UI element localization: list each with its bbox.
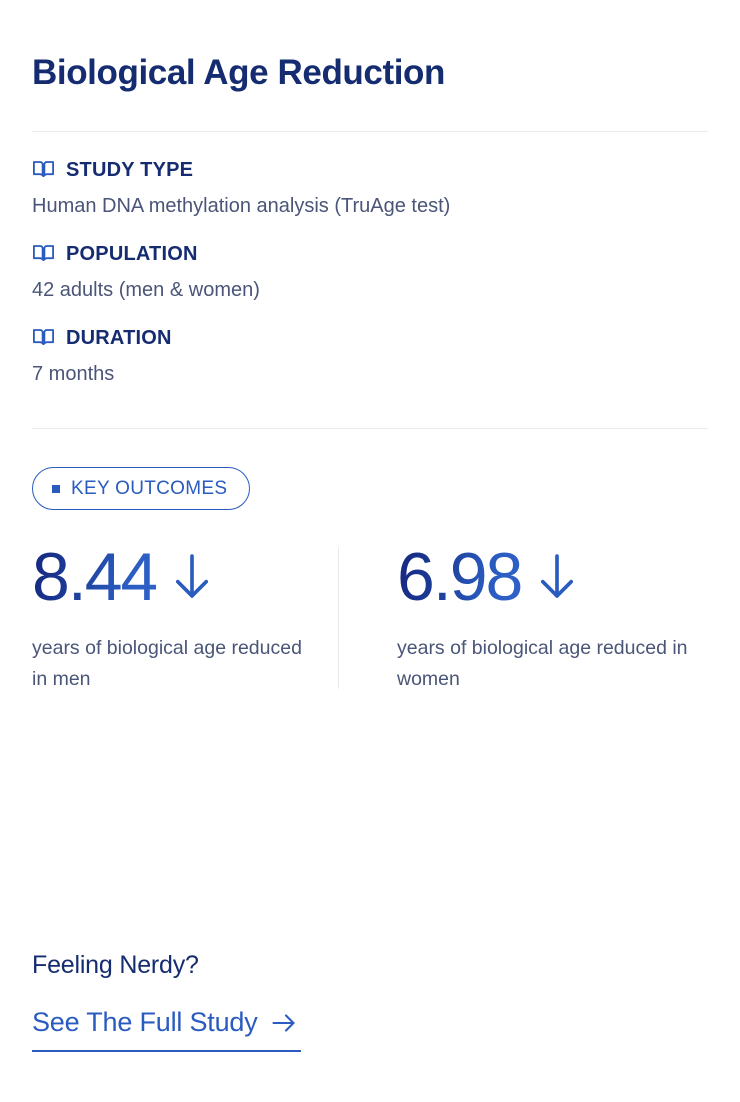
stat-women: 6.98 years of biological age reduced in … (339, 543, 715, 695)
arrow-down-icon (535, 550, 579, 602)
key-outcomes-section: KEY OUTCOMES 8.44 years of biological ag… (32, 429, 708, 695)
book-icon (32, 158, 55, 181)
meta-block-duration: DURATION 7 months (32, 326, 708, 388)
stat-caption: years of biological age reduced in women (397, 633, 697, 695)
meta-header: DURATION (32, 326, 708, 349)
study-link-label: See The Full Study (32, 1008, 258, 1038)
footer-heading: Feeling Nerdy? (32, 950, 301, 980)
square-bullet-icon (52, 485, 60, 493)
key-outcomes-badge: KEY OUTCOMES (32, 467, 250, 510)
meta-header: POPULATION (32, 242, 708, 265)
badge-label: KEY OUTCOMES (71, 479, 227, 498)
page-title: Biological Age Reduction (32, 0, 708, 94)
study-summary-card: Biological Age Reduction STUDY TYPE Huma… (0, 0, 740, 1102)
meta-label: STUDY TYPE (66, 160, 193, 180)
meta-label: POPULATION (66, 244, 198, 264)
book-icon (32, 242, 55, 265)
footer-section: Feeling Nerdy? See The Full Study (32, 950, 301, 1052)
stat-figure: 6.98 (397, 543, 697, 611)
stats-row: 8.44 years of biological age reduced in … (32, 543, 708, 695)
stat-men: 8.44 years of biological age reduced in … (32, 543, 338, 695)
stat-caption: years of biological age reduced in men (32, 633, 320, 695)
meta-block-study-type: STUDY TYPE Human DNA methylation analysi… (32, 158, 708, 220)
stat-value: 8.44 (32, 543, 156, 611)
see-full-study-link[interactable]: See The Full Study (32, 1008, 301, 1052)
stat-figure: 8.44 (32, 543, 320, 611)
arrow-down-icon (170, 550, 214, 602)
meta-value: 7 months (32, 361, 708, 388)
meta-block-population: POPULATION 42 adults (men & women) (32, 242, 708, 304)
study-meta-list: STUDY TYPE Human DNA methylation analysi… (32, 132, 708, 388)
meta-label: DURATION (66, 328, 172, 348)
stat-value: 6.98 (397, 543, 521, 611)
meta-header: STUDY TYPE (32, 158, 708, 181)
book-icon (32, 326, 55, 349)
arrow-right-icon (271, 1012, 297, 1034)
meta-value: 42 adults (men & women) (32, 277, 708, 304)
meta-value: Human DNA methylation analysis (TruAge t… (32, 193, 708, 220)
